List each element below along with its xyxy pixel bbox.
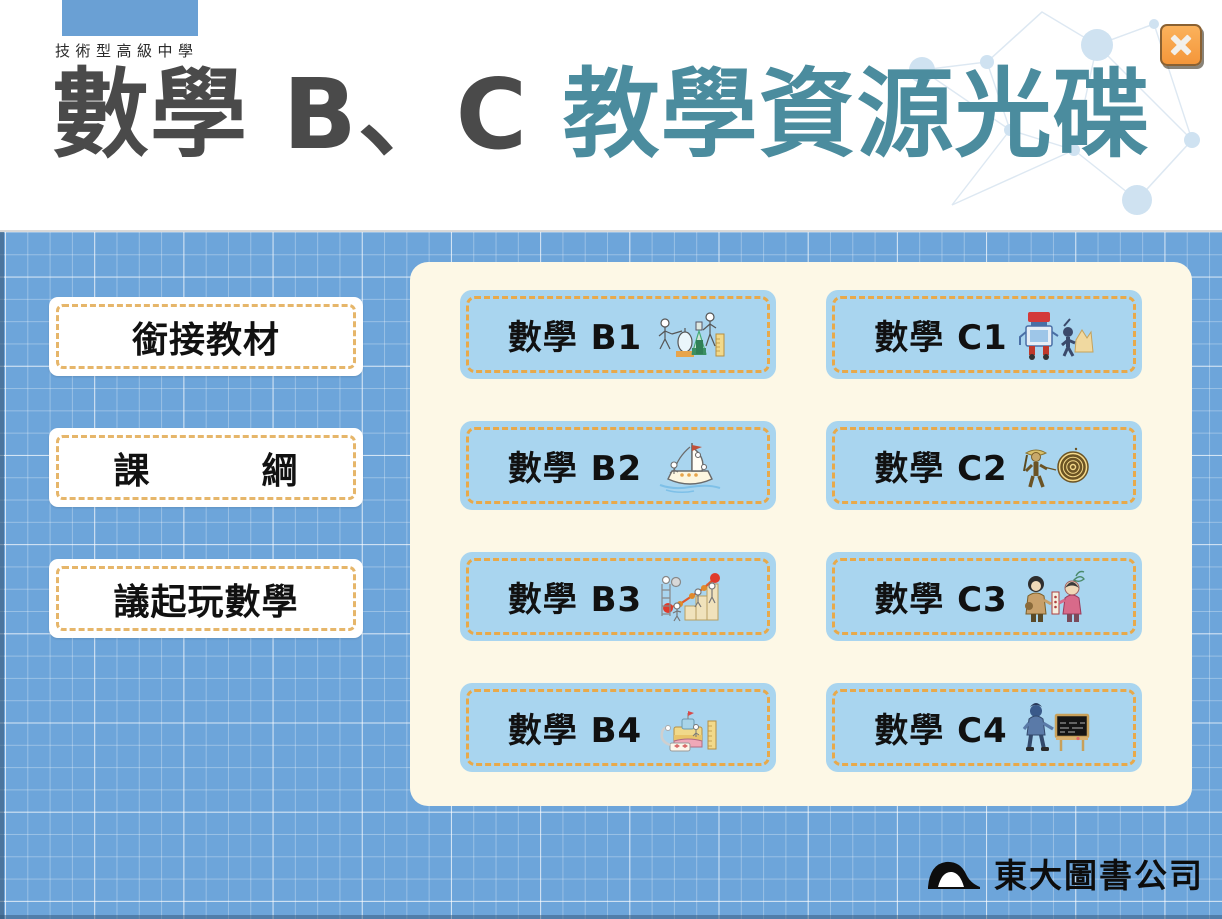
course-label: 數學 B4: [508, 703, 642, 752]
course-button-c4[interactable]: 數學 C4: [826, 683, 1142, 772]
course-button-b3[interactable]: 數學 B3: [460, 552, 776, 641]
course-button-b1[interactable]: 數學 B1: [460, 290, 776, 379]
bedroom-icon: [652, 697, 728, 759]
arch-mountain-logo-icon: [926, 856, 982, 890]
page-title-secondary: 教學資源光碟: [563, 58, 1151, 171]
robot-icon: [1018, 304, 1094, 366]
course-label: 數學 C4: [874, 703, 1007, 752]
background-edge-bottom: [0, 915, 1222, 919]
archer-target-icon: [1018, 435, 1094, 497]
course-button-b2[interactable]: 數學 B2: [460, 421, 776, 510]
sidebar-item-bridging-materials[interactable]: 銜接教材: [49, 297, 363, 376]
course-button-c2[interactable]: 數學 C2: [826, 421, 1142, 510]
brand-name: 東大圖書公司: [994, 849, 1204, 897]
sailboat-icon: [652, 435, 728, 497]
page-title-primary: 數學 B、C: [52, 58, 563, 171]
sidebar: 銜接教材 課 綱 議起玩數學: [49, 297, 363, 690]
header: 技術型高級中學 數學 B、C 教學資源光碟: [0, 0, 1222, 232]
school-badge: [62, 0, 198, 36]
close-button[interactable]: [1160, 24, 1202, 66]
course-label: 數學 C3: [874, 572, 1007, 621]
sidebar-item-label: 課 綱: [49, 428, 363, 507]
course-label: 數學 B3: [508, 572, 642, 621]
sidebar-item-label: 銜接教材: [49, 297, 363, 376]
sidebar-item-curriculum-guidelines[interactable]: 課 綱: [49, 428, 363, 507]
two-figures-icon: [1018, 566, 1094, 628]
sidebar-item-label: 議起玩數學: [49, 559, 363, 638]
sidebar-item-issue-based-math[interactable]: 議起玩數學: [49, 559, 363, 638]
brand-logo: 東大圖書公司: [926, 849, 1204, 897]
bar-chart-build-icon: [652, 566, 728, 628]
course-label: 數學 B1: [508, 310, 642, 359]
course-panel: 數學 B1: [410, 262, 1192, 806]
science-lab-icon: [652, 304, 728, 366]
course-label: 數學 B2: [508, 441, 642, 490]
header-divider: [0, 230, 1222, 232]
course-button-b4[interactable]: 數學 B4: [460, 683, 776, 772]
course-button-c3[interactable]: 數學 C3: [826, 552, 1142, 641]
app-root: 技術型高級中學 數學 B、C 教學資源光碟 銜接教材 課 綱 議起玩數學: [0, 0, 1222, 919]
page-title: 數學 B、C 教學資源光碟: [52, 62, 1151, 169]
course-label: 數學 C1: [874, 310, 1007, 359]
course-button-c1[interactable]: 數學 C1: [826, 290, 1142, 379]
blackboard-icon: [1018, 697, 1094, 759]
course-label: 數學 C2: [874, 441, 1007, 490]
course-grid: 數學 B1: [460, 290, 1142, 772]
